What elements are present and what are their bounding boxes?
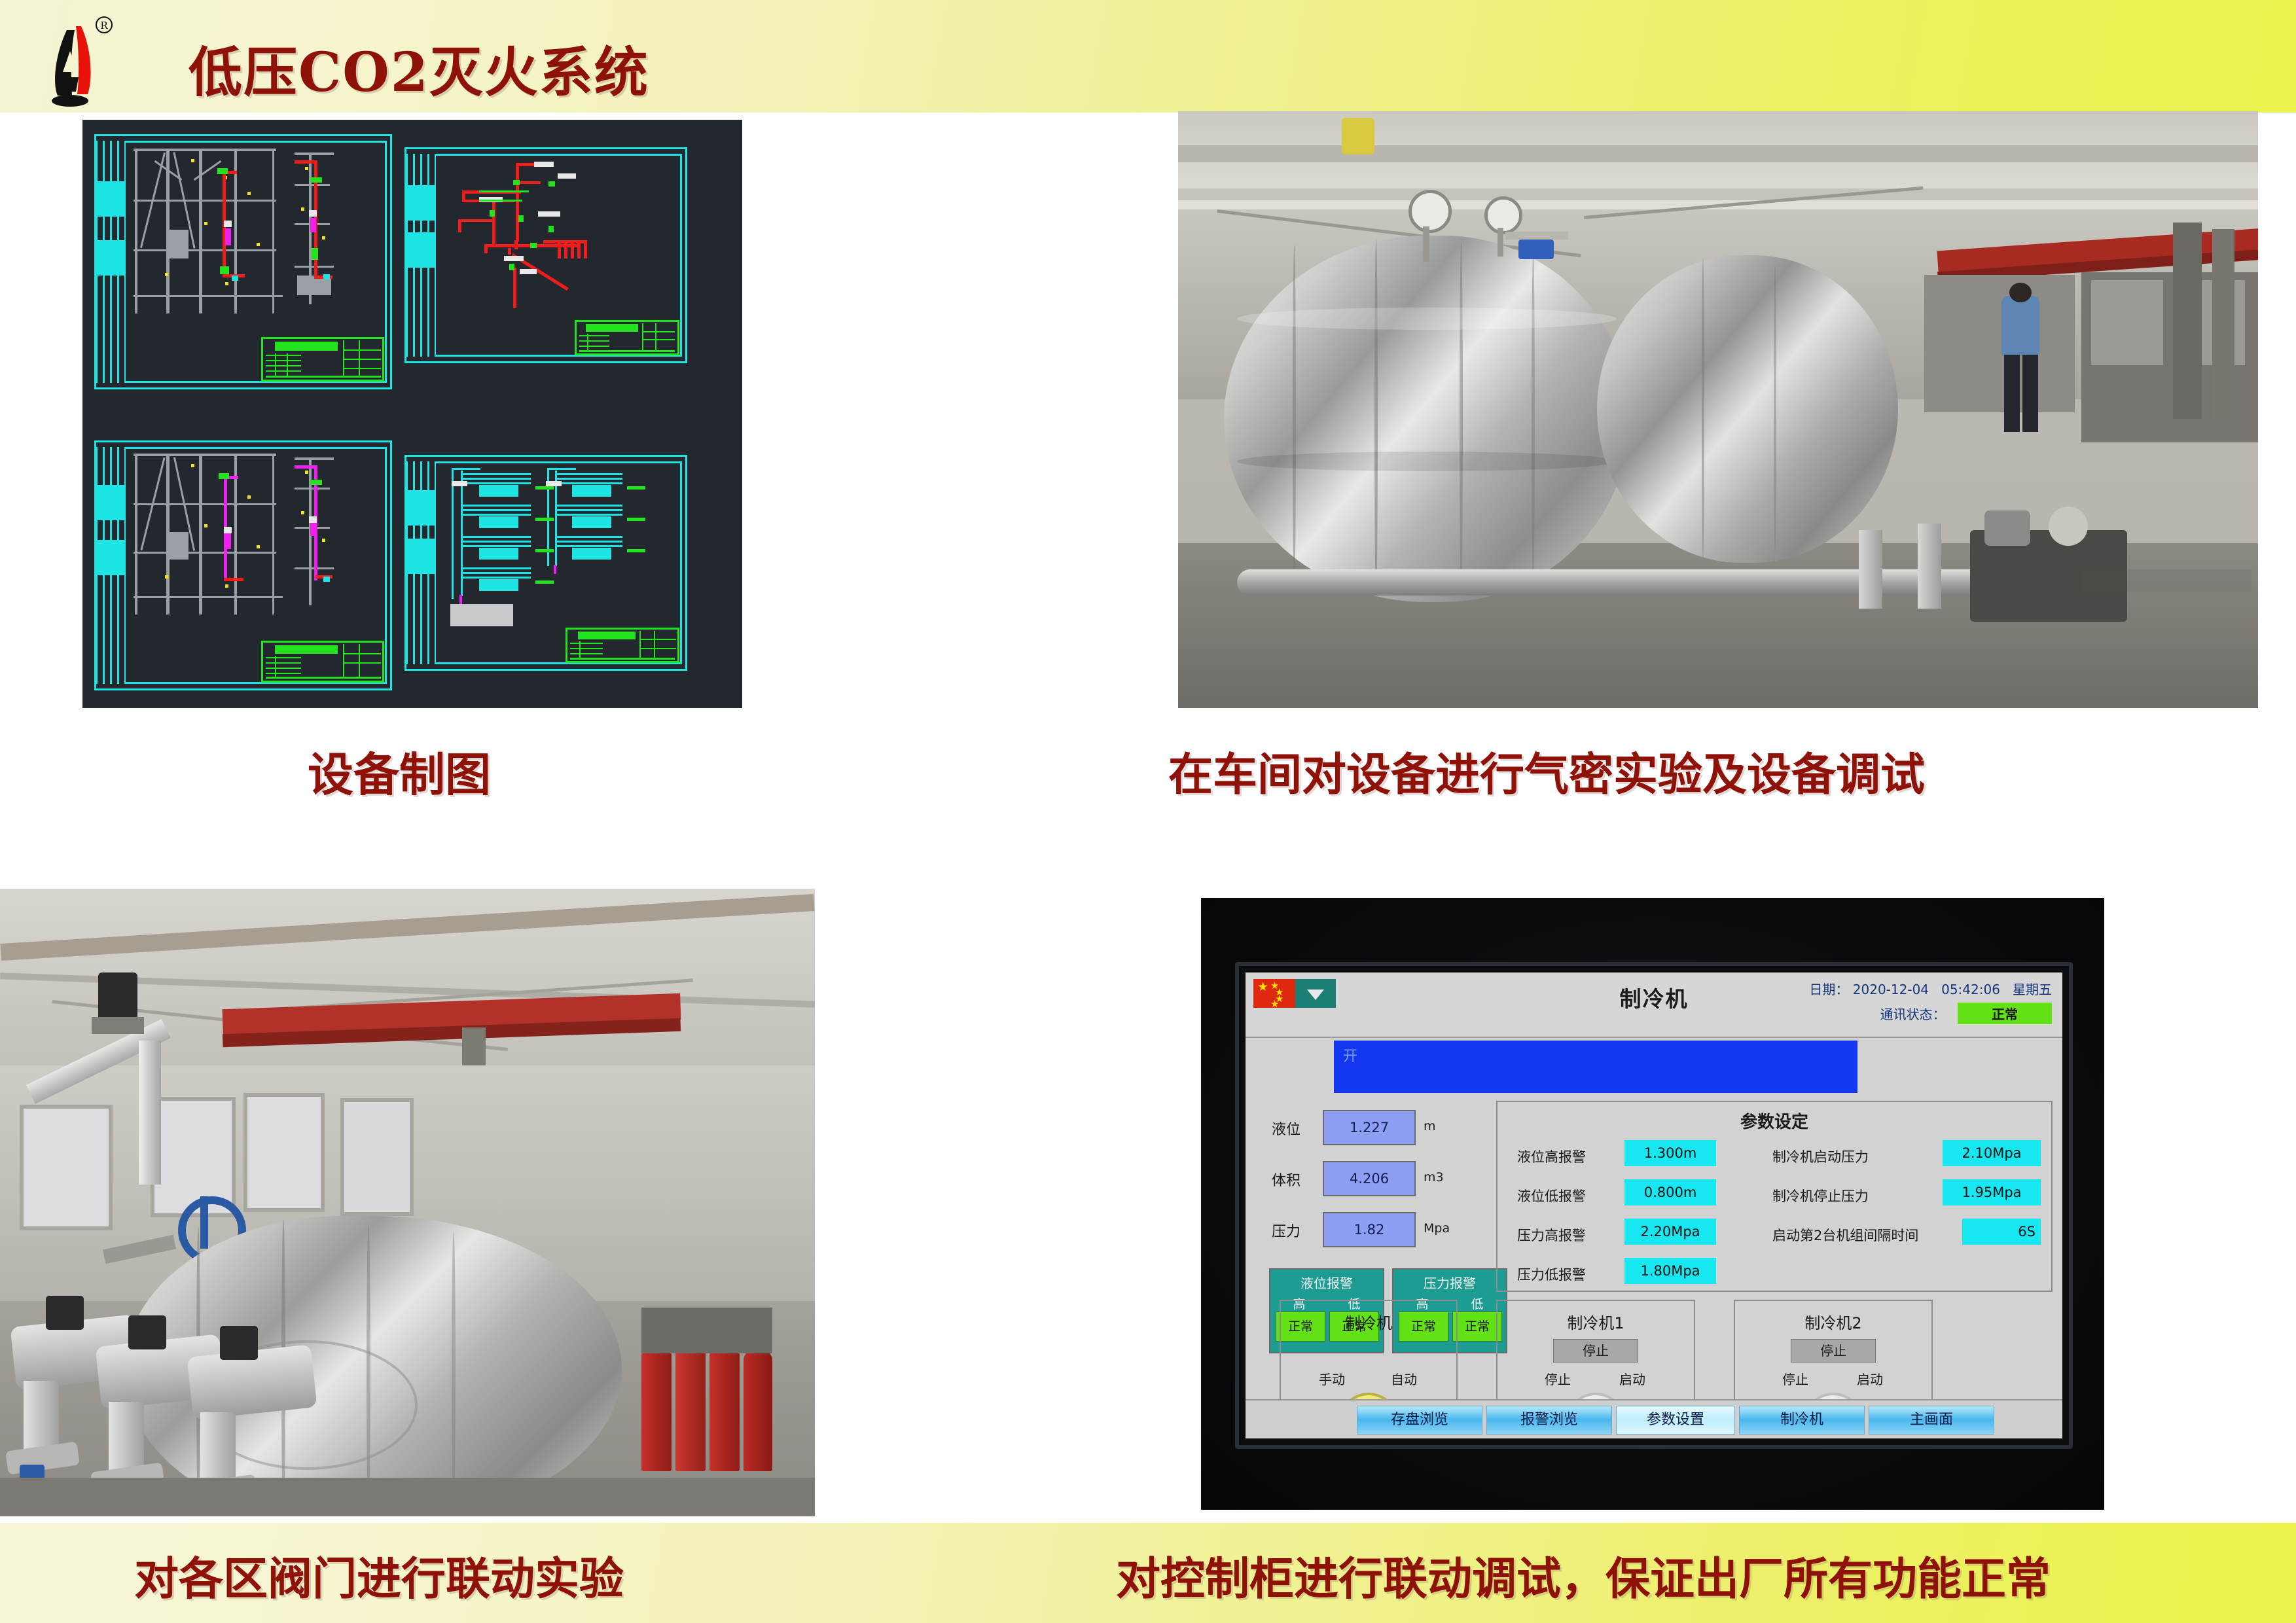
param-chiller-start-value[interactable]: 2.10Mpa: [1943, 1140, 2041, 1166]
caption-workshop: 在车间对设备进行气密实验及设备调试: [1168, 738, 1925, 803]
motor-chiller1-title: 制冷机1: [1498, 1310, 1694, 1333]
alarm-pressure-low-state: 正常: [1452, 1311, 1502, 1342]
hmi-datetime: 日期： 2020-12-04 05:42:06 星期五: [1809, 979, 2052, 998]
param-pressure-high-value[interactable]: 2.20Mpa: [1624, 1219, 1716, 1245]
motor-chiller2-title: 制冷机2: [1735, 1310, 1931, 1333]
caption-hmi: 对控制柜进行联动调试，保证出厂所有功能正常: [1116, 1543, 2051, 1607]
motor-chiller-auto-label: 自动: [1378, 1369, 1430, 1388]
param-pressure-low-value[interactable]: 1.80Mpa: [1624, 1258, 1716, 1284]
caption-valves: 对各区阀门进行联动实验: [134, 1543, 624, 1607]
param-level-high-label: 液位高报警: [1517, 1147, 1586, 1166]
cad-title-block: [261, 337, 384, 382]
hmi-nav-bar: 存盘浏览 报警浏览 参数设置 制冷机 主画面: [1246, 1399, 2062, 1438]
meter-level-unit: m: [1424, 1119, 1436, 1133]
hmi-banner-text: 开: [1343, 1044, 1357, 1065]
hmi-date-label: 日期：: [1809, 982, 1848, 997]
param-second-unit-delay-value[interactable]: 6S: [1962, 1219, 2041, 1245]
meter-level-label: 液位: [1272, 1118, 1319, 1139]
hmi-time-value: 05:42:06: [1941, 982, 2000, 997]
parameter-settings-panel: 参数设定 液位高报警 1.300m 液位低报警 0.800m 压力高报警 2.2…: [1496, 1101, 2053, 1292]
param-level-low-value[interactable]: 0.800m: [1624, 1179, 1716, 1205]
hmi-weekday: 星期五: [2013, 982, 2052, 997]
parameter-panel-title: 参数设定: [1498, 1109, 2051, 1133]
meter-volume-unit: m3: [1424, 1170, 1444, 1185]
motor-chiller1-stop-label: 停止: [1532, 1369, 1584, 1388]
nav-button-history[interactable]: 存盘浏览: [1357, 1406, 1482, 1435]
alarm-group-level-title: 液位报警: [1270, 1273, 1383, 1292]
meter-volume-value[interactable]: 4.206: [1323, 1161, 1416, 1196]
meter-volume-label: 体积: [1272, 1169, 1319, 1190]
motor-chiller2-stop-label: 停止: [1769, 1369, 1821, 1388]
alarm-pressure-low-label: 低: [1451, 1294, 1503, 1312]
header-banner: R 低压CO2灭火系统: [0, 0, 2296, 113]
nav-button-parameters[interactable]: 参数设置: [1616, 1406, 1735, 1435]
caption-cad: 设备制图: [308, 738, 491, 804]
workshop-co2-tanks-photo: [1178, 111, 2258, 708]
hmi-comm-label: 通讯状态：: [1880, 1007, 1946, 1022]
hmi-screen: ★ ★ ★ ★ ★ 制冷机 日期： 2020-12-04 05:42:06 星期…: [1246, 972, 2062, 1438]
company-sail-logo: R: [38, 12, 136, 110]
motor-chiller-title: 制冷机: [1281, 1310, 1456, 1333]
meter-level: 液位 1.227 m: [1272, 1110, 1468, 1143]
param-second-unit-delay-label: 启动第2台机组间隔时间: [1772, 1225, 1918, 1245]
cad-sheet-electrical: [404, 455, 687, 671]
svg-text:R: R: [100, 20, 108, 31]
meter-level-value[interactable]: 1.227: [1323, 1110, 1416, 1145]
param-level-low-label: 液位低报警: [1517, 1186, 1586, 1205]
nav-button-alarms[interactable]: 报警浏览: [1486, 1406, 1612, 1435]
hmi-alarm-banner: 开: [1334, 1041, 1857, 1093]
cad-sheet-piping-schematic: [404, 147, 687, 363]
cad-sheet-elevation-red: [94, 134, 392, 389]
meter-pressure: 压力 1.82 Mpa: [1272, 1212, 1468, 1245]
zone-valves-photo: [0, 889, 815, 1516]
meter-pressure-label: 压力: [1272, 1220, 1319, 1241]
nav-button-home[interactable]: 主画面: [1869, 1406, 1994, 1435]
hmi-comm-status: 通讯状态： 正常: [1880, 1003, 2052, 1024]
alarm-group-pressure-title: 压力报警: [1393, 1273, 1506, 1292]
page-title: 低压CO2灭火系统: [188, 29, 649, 107]
cad-sheet-elevation-magenta: [94, 440, 392, 690]
motor-chiller2-start-label: 启动: [1844, 1369, 1896, 1388]
status-badge: 正常: [1958, 1003, 2052, 1024]
hmi-date-value: 2020-12-04: [1853, 982, 1929, 997]
meter-pressure-unit: Mpa: [1424, 1221, 1450, 1236]
param-pressure-high-label: 压力高报警: [1517, 1225, 1586, 1245]
meter-volume: 体积 4.206 m3: [1272, 1161, 1468, 1194]
nav-button-chiller[interactable]: 制冷机: [1739, 1406, 1865, 1435]
control-cabinet-hmi-photo: ★ ★ ★ ★ ★ 制冷机 日期： 2020-12-04 05:42:06 星期…: [1201, 898, 2104, 1510]
motor-chiller1-start-label: 启动: [1606, 1369, 1659, 1388]
param-pressure-low-label: 压力低报警: [1517, 1264, 1586, 1284]
param-level-high-value[interactable]: 1.300m: [1624, 1140, 1716, 1166]
param-chiller-stop-label: 制冷机停止压力: [1772, 1186, 1869, 1205]
cad-drawings-panel: [82, 120, 742, 708]
motor-chiller-manual-label: 手动: [1306, 1369, 1358, 1388]
motor-chiller1-status: 停止: [1553, 1339, 1638, 1363]
param-chiller-start-label: 制冷机启动压力: [1772, 1147, 1869, 1166]
hmi-top-bar: ★ ★ ★ ★ ★ 制冷机 日期： 2020-12-04 05:42:06 星期…: [1246, 972, 2062, 1038]
hmi-monitor-bezel: ★ ★ ★ ★ ★ 制冷机 日期： 2020-12-04 05:42:06 星期…: [1235, 962, 2073, 1449]
motor-chiller2-status: 停止: [1791, 1339, 1876, 1363]
meter-pressure-value[interactable]: 1.82: [1323, 1212, 1416, 1247]
param-chiller-stop-value[interactable]: 1.95Mpa: [1943, 1179, 2041, 1205]
